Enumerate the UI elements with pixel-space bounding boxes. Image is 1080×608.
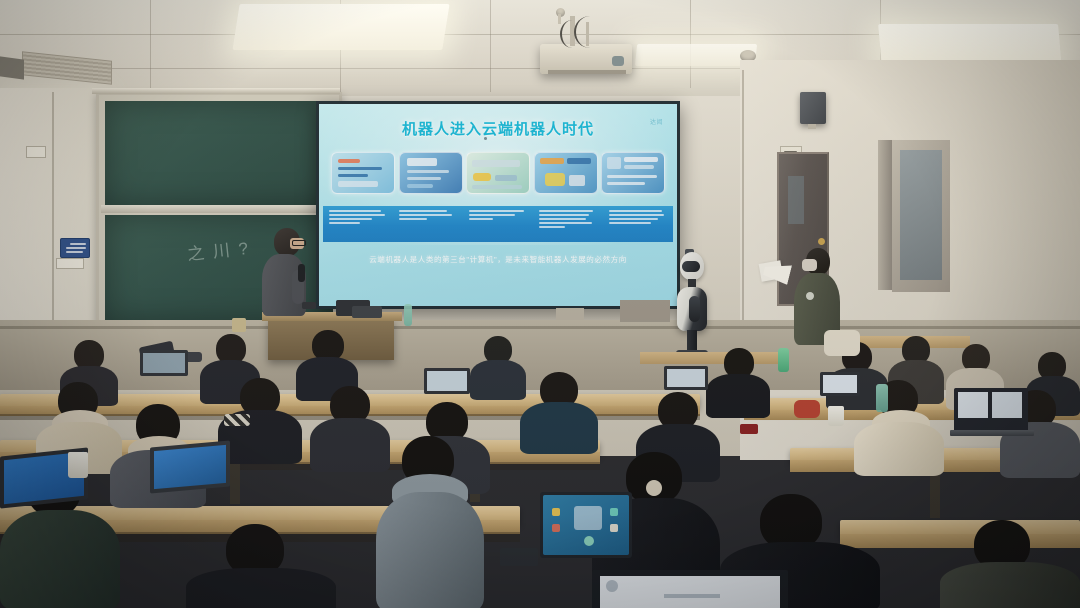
projection-screen: 机器人进入云端机器人时代 达闼 xyxy=(316,101,680,309)
wall-outlet-plate xyxy=(26,146,46,158)
window-glass xyxy=(900,150,942,280)
laptop[interactable] xyxy=(150,444,234,492)
tablet[interactable] xyxy=(540,492,632,558)
projector-shadow xyxy=(548,70,626,74)
projector-lens-icon xyxy=(612,56,624,66)
projector-cable xyxy=(574,16,606,48)
student xyxy=(186,524,336,608)
slide-footer-text: 云端机器人是人类的第三台"计算机"，是未来智能机器人发展的必然方向 xyxy=(319,254,677,265)
laptop[interactable] xyxy=(954,388,1032,436)
bag xyxy=(824,330,860,356)
hand xyxy=(646,480,662,496)
presentation-slide: 机器人进入云端机器人时代 达闼 xyxy=(319,104,677,306)
lecture-hall-photo: 之 川 ? 机器人进入云端机器人时代 达闼 xyxy=(0,0,1080,608)
ceiling-light xyxy=(635,44,757,66)
wall-speaker xyxy=(800,92,826,124)
ceiling-grid-line xyxy=(490,0,491,92)
slide-thumbnail xyxy=(601,152,665,194)
desk-object xyxy=(232,318,246,332)
blackboard-rail xyxy=(101,205,337,213)
scarf xyxy=(224,414,250,426)
slide-caption-column xyxy=(323,206,393,242)
ceiling-grid-line xyxy=(150,0,151,100)
laptop[interactable] xyxy=(592,570,792,608)
water-bottle xyxy=(876,384,888,412)
slide-thumbnail-row xyxy=(331,152,665,192)
cursor-pointer-icon xyxy=(484,137,487,140)
student xyxy=(376,436,484,608)
slide-caption-column xyxy=(463,206,533,242)
small-item xyxy=(740,424,758,434)
student xyxy=(940,520,1080,608)
chalk-mark: 之 川 ? xyxy=(186,234,251,265)
laptop[interactable] xyxy=(140,350,190,378)
slide-caption-column xyxy=(603,206,673,242)
paper-cup xyxy=(828,406,844,426)
sprinkler-stem xyxy=(558,14,561,24)
paper-cup xyxy=(68,452,88,478)
slide-logo: 达闼 xyxy=(650,117,663,126)
front-table-item xyxy=(556,308,584,320)
blackboard-top-rail xyxy=(92,88,340,94)
ceiling-duct xyxy=(0,56,24,79)
slide-thumbnail xyxy=(331,152,395,194)
jacket-logo xyxy=(806,292,814,300)
slide-title: 机器人进入云端机器人时代 xyxy=(319,118,677,139)
glasses-icon xyxy=(292,240,306,246)
microphone-icon xyxy=(298,264,305,282)
door-handle-icon[interactable] xyxy=(818,238,825,245)
wall-label-plate xyxy=(56,258,84,269)
wall-notice-sign xyxy=(60,238,90,258)
laptop[interactable] xyxy=(424,368,472,396)
secondary-door-edge[interactable] xyxy=(878,140,892,290)
slide-caption-column xyxy=(393,206,463,242)
lectern-equipment xyxy=(352,306,382,318)
robot-column xyxy=(687,330,697,352)
bag xyxy=(794,400,820,418)
student xyxy=(470,336,526,394)
slide-caption-band xyxy=(323,206,673,242)
slide-caption-column xyxy=(533,206,603,242)
robot-face-visor xyxy=(682,261,700,272)
ceiling-light xyxy=(232,4,449,50)
slide-thumbnail xyxy=(399,152,463,194)
water-bottle xyxy=(778,348,789,372)
stage-edge xyxy=(0,326,1080,329)
student xyxy=(520,372,598,448)
slide-thumbnail xyxy=(534,152,598,194)
student xyxy=(296,330,358,394)
laptop[interactable] xyxy=(820,372,862,398)
cloud-service-robot xyxy=(672,252,714,358)
laptop[interactable] xyxy=(664,366,710,392)
water-bottle xyxy=(404,304,412,326)
robot-chest-panel xyxy=(689,296,700,322)
presenter-hand-device xyxy=(302,302,316,309)
presenter xyxy=(258,228,314,326)
front-table xyxy=(620,300,670,322)
speaker-mount xyxy=(808,124,816,129)
phone[interactable] xyxy=(500,548,538,566)
slide-thumbnail xyxy=(466,152,530,194)
face-mask-icon xyxy=(802,259,817,271)
door-window xyxy=(788,176,804,224)
blackboard-panel-upper xyxy=(105,101,333,205)
student xyxy=(854,380,944,466)
